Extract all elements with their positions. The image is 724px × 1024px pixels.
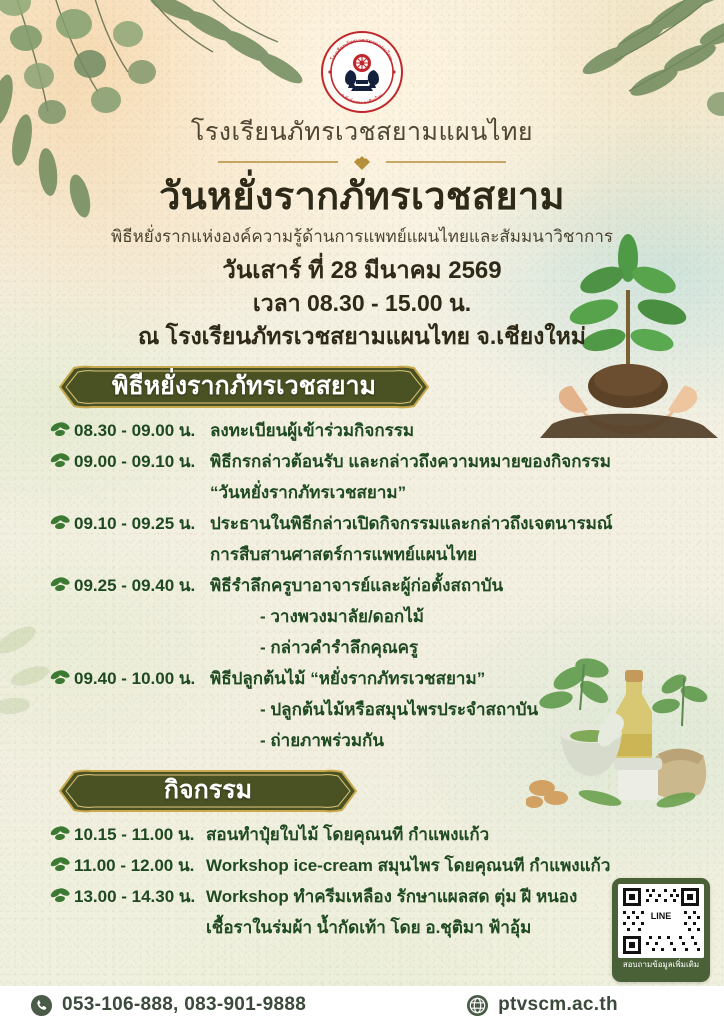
qr-caption: สอบถามข้อมูลเพิ่มเติม [618,961,704,970]
schedule-time: 09.25 - 09.40 น. [74,571,210,600]
school-seal-logo: โรงเรียนภัทรเวชสยามแผนไทย อ.สันกำแพง จ.เ… [320,30,404,114]
qr-code-icon: LINE [618,884,704,958]
phone-number: 053-106-888, 083-901-9888 [62,994,306,1016]
leaf-bullet-icon [50,882,74,909]
schedule-desc: สอนทำปุ๋ยใบไม้ โดยคุณนที กำแพงแก้ว [206,820,489,849]
school-name: โรงเรียนภัทรเวชสยามแผนไทย [0,118,724,147]
schedule-desc: พิธีปลูกต้นไม้ “หยั่งรากภัทรเวชสยาม” [210,664,485,693]
schedule-row: 08.30 - 09.00 น. ลงทะเบียนผู้เข้าร่วมกิจ… [50,416,678,445]
contact-footer: 053-106-888, 083-901-9888 ptvscm.ac.th [0,986,724,1024]
schedule-row: 09.25 - 09.40 น. พิธีรำลึกครูบาอาจารย์แล… [50,571,678,600]
schedule-desc: ประธานในพิธีกล่าวเปิดกิจกรรมและกล่าวถึงเ… [210,509,613,538]
schedule-continuation: “วันหยั่งรากภัทรเวชสยาม” [50,478,678,507]
schedule-subitem: - ถ่ายภาพร่วมกัน [50,726,678,755]
schedule-subitem-text: - กล่าวคำรำลึกคุณครู [246,633,418,662]
schedule-subitem: - วางพวงมาลัย/ดอกไม้ [50,602,678,631]
schedule-time: 09.40 - 10.00 น. [74,664,210,693]
schedule-continuation: เชื้อราในร่มผ้า น้ำกัดเท้า โดย อ.ชุติมา … [50,913,690,942]
event-date: วันเสาร์ ที่ 28 มีนาคม 2569 [0,255,724,287]
schedule-row: 11.00 - 12.00 น. Workshop ice-cream สมุน… [50,851,690,880]
schedule-desc: พิธีรำลึกครูบาอาจารย์และผู้ก่อตั้งสถาบัน [210,571,503,600]
schedule-time: 09.10 - 09.25 น. [74,509,210,538]
globe-icon [466,994,489,1017]
event-title: วันหยั่งรากภัทรเวชสยาม [0,177,724,219]
poster: โรงเรียนภัทรเวชสยามแผนไทย อ.สันกำแพง จ.เ… [0,0,724,1024]
section-banner-activity: กิจกรรม [58,768,358,814]
leaf-bullet-icon [50,447,74,474]
ceremony-schedule-list: 08.30 - 09.00 น. ลงทะเบียนผู้เข้าร่วมกิจ… [50,416,678,757]
schedule-time: 11.00 - 12.00 น. [74,851,206,880]
schedule-subitem: - กล่าวคำรำลึกคุณครู [50,633,678,662]
leaf-bullet-icon [50,664,74,691]
section-banner-ceremony: พิธีหยั่งรากภัทรเวชสยาม [58,364,430,410]
event-venue: ณ โรงเรียนภัทรเวชสยามแผนไทย จ.เชียงใหม่ [0,320,724,352]
schedule-desc-cont: “วันหยั่งรากภัทรเวชสยาม” [210,478,406,507]
schedule-continuation: การสืบสานศาสตร์การแพทย์แผนไทย [50,540,678,569]
schedule-row: 09.40 - 10.00 น. พิธีปลูกต้นไม้ “หยั่งรา… [50,664,678,693]
schedule-time: 08.30 - 09.00 น. [74,416,210,445]
schedule-time: 10.15 - 11.00 น. [74,820,206,849]
schedule-subitem-text: - ปลูกต้นไม้หรือสมุนไพรประจำสถาบัน [246,695,538,724]
event-datetime-venue: วันเสาร์ ที่ 28 มีนาคม 2569 เวลา 08.30 -… [0,255,724,352]
schedule-desc: Workshop ice-cream สมุนไพร โดยคุณนที กำแ… [206,851,610,880]
leaf-bullet-icon [50,851,74,878]
leaf-bullet-icon [50,820,74,847]
gold-divider-ornament [212,154,512,170]
school-seal-icon: โรงเรียนภัทรเวชสยามแผนไทย อ.สันกำแพง จ.เ… [320,30,404,114]
schedule-row: 09.00 - 09.10 น. พิธีกรกล่าวต้อนรับ และก… [50,447,678,476]
website-contact[interactable]: ptvscm.ac.th [466,994,618,1017]
schedule-desc-cont: เชื้อราในร่มผ้า น้ำกัดเท้า โดย อ.ชุติมา … [206,913,531,942]
activity-schedule-list: 10.15 - 11.00 น. สอนทำปุ๋ยใบไม้ โดยคุณนท… [50,820,690,944]
leaf-bullet-icon [50,571,74,598]
schedule-desc: Workshop ทำครีมเหลือง รักษาแผลสด ตุ่ม ฝี… [206,882,577,911]
banner-label: พิธีหยั่งรากภัทรเวชสยาม [58,364,430,410]
poster-header: โรงเรียนภัทรเวชสยามแผนไทย วันหยั่งรากภัท… [0,118,724,250]
website-url: ptvscm.ac.th [498,994,618,1016]
leaf-bullet-icon [50,509,74,536]
schedule-desc: ลงทะเบียนผู้เข้าร่วมกิจกรรม [210,416,414,445]
schedule-subitem: - ปลูกต้นไม้หรือสมุนไพรประจำสถาบัน [50,695,678,724]
event-time: เวลา 08.30 - 15.00 น. [0,287,724,319]
schedule-row: 13.00 - 14.30 น. Workshop ทำครีมเหลือง ร… [50,882,690,911]
schedule-desc-cont: การสืบสานศาสตร์การแพทย์แผนไทย [210,540,477,569]
schedule-row: 10.15 - 11.00 น. สอนทำปุ๋ยใบไม้ โดยคุณนท… [50,820,690,849]
phone-contact[interactable]: 053-106-888, 083-901-9888 [30,994,306,1017]
line-qr-block[interactable]: LINE สอบถามข้อมูลเพิ่มเติม [612,878,710,982]
qr-code-image[interactable]: LINE [618,884,704,958]
schedule-subitem-text: - วางพวงมาลัย/ดอกไม้ [246,602,424,631]
phone-icon [30,994,53,1017]
banner-label: กิจกรรม [58,768,358,814]
qr-line-label: LINE [651,911,672,921]
schedule-subitem-text: - ถ่ายภาพร่วมกัน [246,726,384,755]
schedule-time: 13.00 - 14.30 น. [74,882,206,911]
leaf-bullet-icon [50,416,74,443]
schedule-row: 09.10 - 09.25 น. ประธานในพิธีกล่าวเปิดกิ… [50,509,678,538]
event-subtitle: พิธีหยั่งรากแห่งองค์ความรู้ด้านการแพทย์แ… [0,223,724,250]
schedule-desc: พิธีกรกล่าวต้อนรับ และกล่าวถึงความหมายขอ… [210,447,611,476]
schedule-time: 09.00 - 09.10 น. [74,447,210,476]
